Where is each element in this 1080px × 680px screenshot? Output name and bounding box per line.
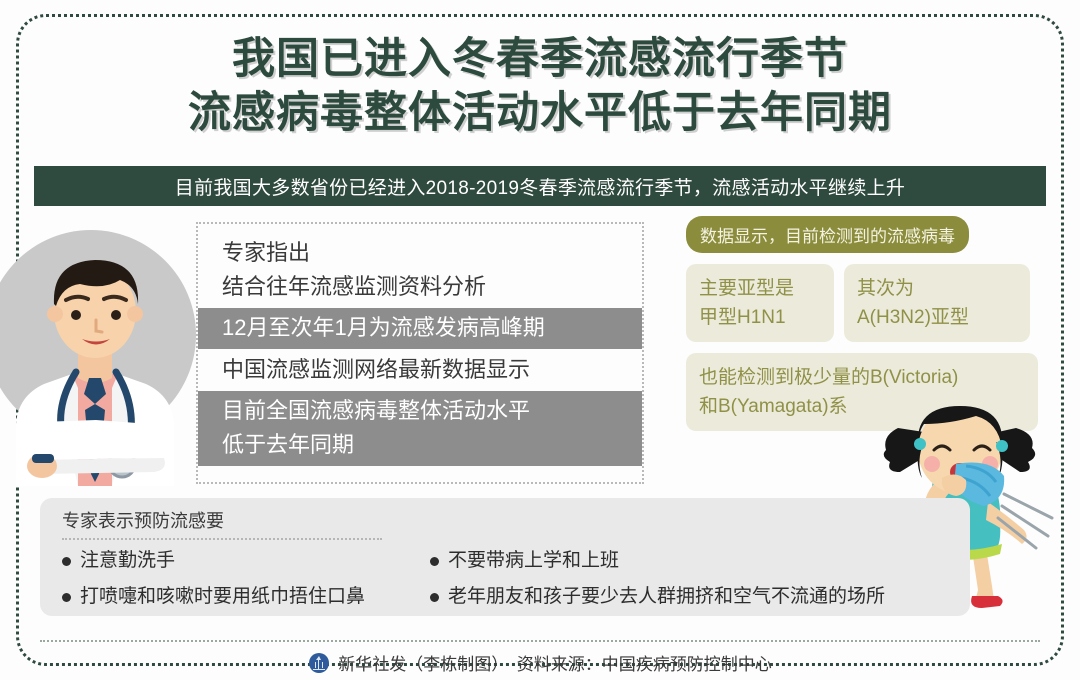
subtype-box-row: 主要亚型是 甲型H1N1 其次为 A(H3N2)亚型 bbox=[686, 264, 1038, 342]
secondary-subtype-box: 其次为 A(H3N2)亚型 bbox=[844, 264, 1030, 342]
bullet-dot-icon bbox=[430, 557, 439, 566]
prevention-panel: 专家表示预防流感要 注意勤洗手 不要带病上学和上班 打喷嚏和咳嗽时要用纸巾捂住口… bbox=[40, 498, 970, 616]
prevention-item-1-label: 注意勤洗手 bbox=[80, 546, 175, 576]
xinhua-logo-icon bbox=[308, 652, 330, 674]
footer: 新华社发（李栋制图） 资料来源：中国疾病预防控制中心 bbox=[0, 650, 1080, 675]
doctor-illustration bbox=[0, 228, 200, 486]
prevention-heading: 专家表示预防流感要 bbox=[62, 508, 970, 534]
page-title: 我国已进入冬春季流感流行季节 流感病毒整体活动水平低于去年同期 bbox=[0, 32, 1080, 140]
expert-analysis-line: 结合往年流感监测资料分析 bbox=[198, 270, 642, 304]
prevention-item-4-label: 老年朋友和孩子要少去人群拥挤和空气不流通的场所 bbox=[448, 582, 885, 612]
infographic-page: 我国已进入冬春季流感流行季节 流感病毒整体活动水平低于去年同期 目前我国大多数省… bbox=[0, 0, 1080, 680]
surveillance-network-line: 中国流感监测网络最新数据显示 bbox=[198, 353, 642, 387]
prevention-item-2-label: 不要带病上学和上班 bbox=[448, 546, 619, 576]
activity-level-line-2: 低于去年同期 bbox=[222, 428, 642, 462]
peak-period-highlight: 12月至次年1月为流感发病高峰期 bbox=[198, 308, 642, 349]
doctor-figure-icon bbox=[0, 228, 200, 486]
secondary-subtype-value: A(H3N2)亚型 bbox=[857, 303, 1017, 332]
primary-subtype-box: 主要亚型是 甲型H1N1 bbox=[686, 264, 834, 342]
subtitle-bar: 目前我国大多数省份已经进入2018-2019冬春季流感流行季节，流感活动水平继续… bbox=[34, 166, 1046, 206]
secondary-subtype-label: 其次为 bbox=[857, 274, 1017, 303]
prevention-divider bbox=[62, 538, 382, 540]
expert-intro-line: 专家指出 bbox=[198, 236, 642, 270]
primary-subtype-value: 甲型H1N1 bbox=[699, 303, 821, 332]
footer-credit: 新华社发（李栋制图） 资料来源：中国疾病预防控制中心 bbox=[338, 650, 772, 675]
activity-level-highlight: 目前全国流感病毒整体活动水平 低于去年同期 bbox=[198, 391, 642, 466]
prevention-item-4: 老年朋友和孩子要少去人群拥挤和空气不流通的场所 bbox=[430, 582, 885, 612]
prevention-item-1: 注意勤洗手 bbox=[62, 546, 175, 576]
virus-data-banner: 数据显示，目前检测到的流感病毒 bbox=[686, 216, 969, 253]
bullet-dot-icon bbox=[62, 593, 71, 602]
bullet-dot-icon bbox=[62, 557, 71, 566]
primary-subtype-label: 主要亚型是 bbox=[699, 274, 821, 303]
expert-statement-panel: 专家指出 结合往年流感监测资料分析 12月至次年1月为流感发病高峰期 中国流感监… bbox=[196, 222, 644, 484]
prevention-item-3-label: 打喷嚏和咳嗽时要用纸巾捂住口鼻 bbox=[80, 582, 365, 612]
subtitle-text: 目前我国大多数省份已经进入2018-2019冬春季流感流行季节，流感活动水平继续… bbox=[175, 173, 905, 200]
bullet-dot-icon bbox=[430, 593, 439, 602]
activity-level-line-1: 目前全国流感病毒整体活动水平 bbox=[222, 394, 642, 428]
title-line-1: 我国已进入冬春季流感流行季节 bbox=[0, 32, 1080, 86]
title-line-2: 流感病毒整体活动水平低于去年同期 bbox=[0, 86, 1080, 140]
prevention-item-3: 打喷嚏和咳嗽时要用纸巾捂住口鼻 bbox=[62, 582, 365, 612]
b-strain-line-1: 也能检测到极少量的B(Victoria) bbox=[699, 363, 1025, 392]
footer-divider bbox=[40, 640, 1040, 642]
prevention-item-2: 不要带病上学和上班 bbox=[430, 546, 619, 576]
